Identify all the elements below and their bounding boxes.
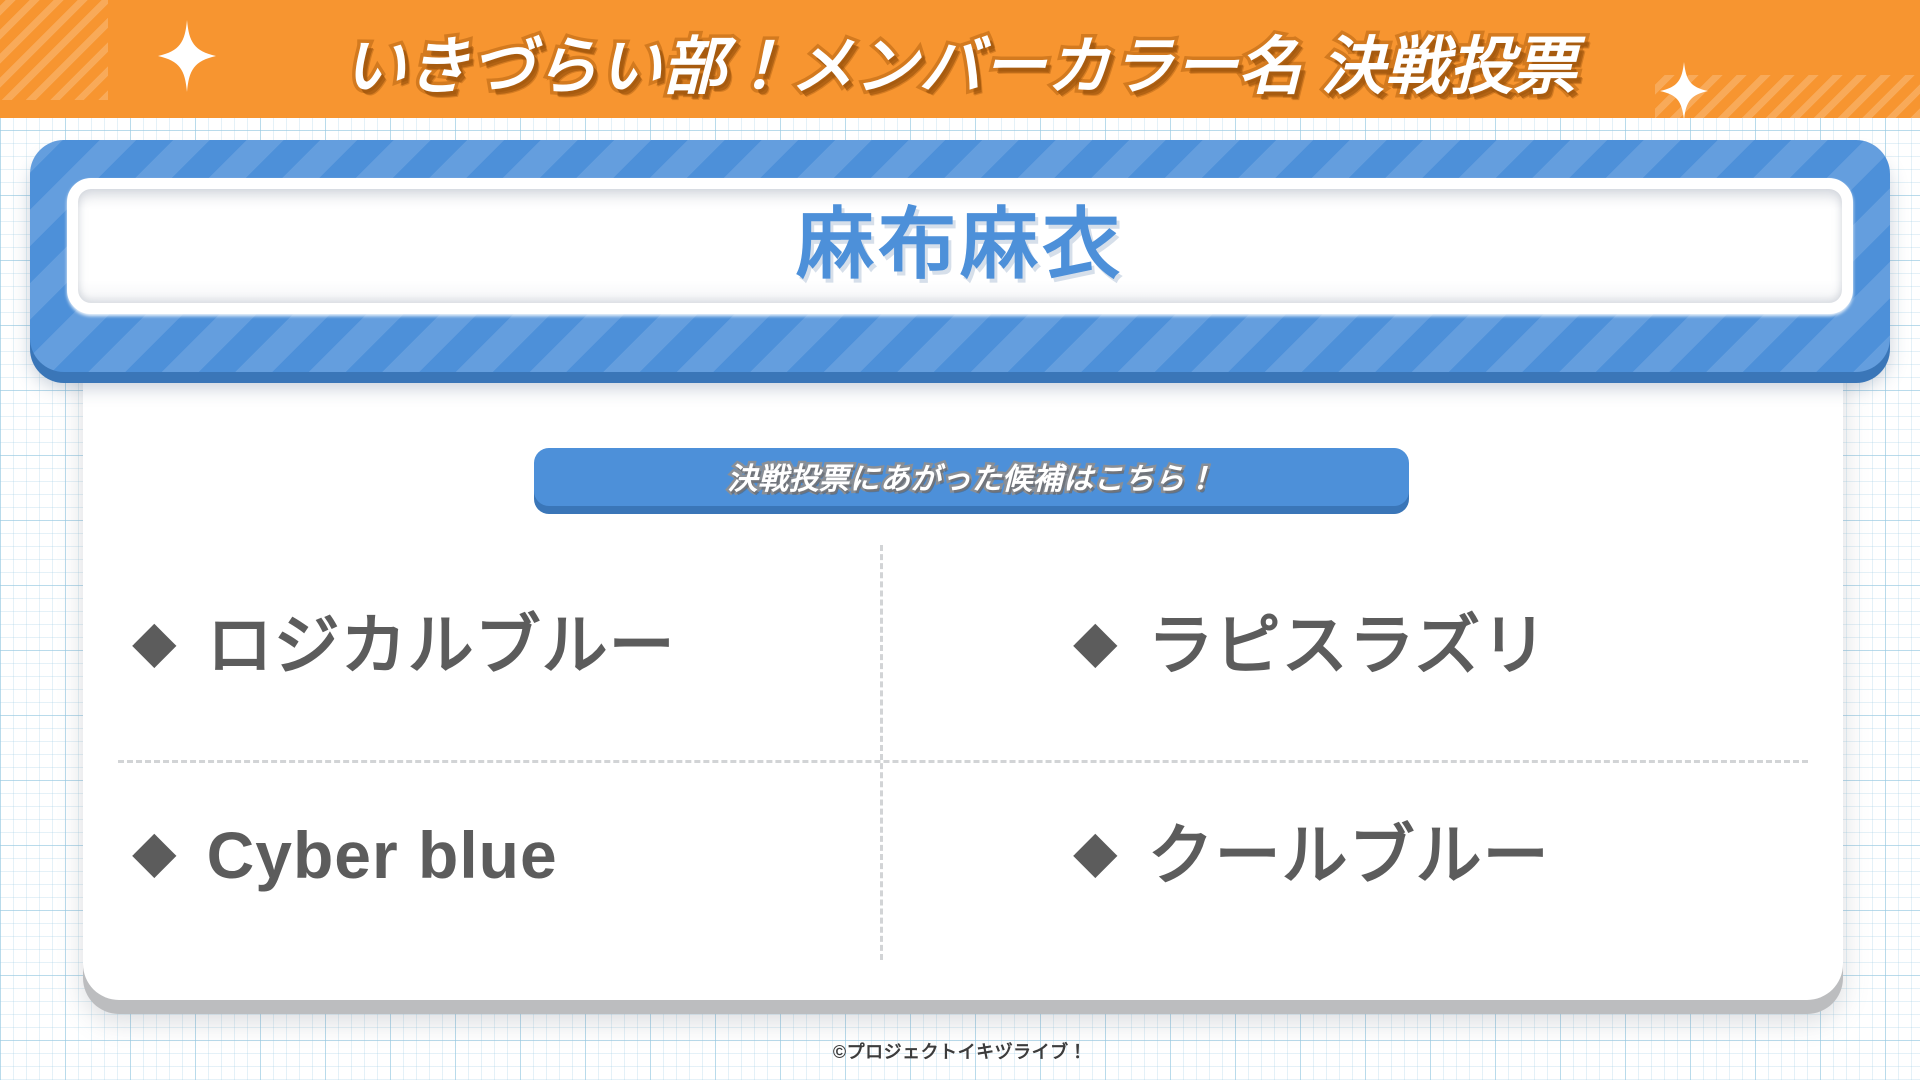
candidate-option-4[interactable]: ◆ クールブルー <box>963 750 1808 960</box>
diamond-bullet-icon: ◆ <box>1073 823 1118 881</box>
candidate-option-label: ラピスラズリ <box>1148 612 1549 678</box>
diamond-bullet-icon: ◆ <box>1073 613 1118 671</box>
ribbon-label-text: 決戦投票にあがった候補はこちら！ <box>728 454 1216 498</box>
member-name-inner-box: 麻布麻衣 <box>67 178 1853 314</box>
diamond-bullet-icon: ◆ <box>132 823 177 881</box>
candidate-option-label: ロジカルブルー <box>207 612 676 678</box>
candidate-option-2[interactable]: ◆ ラピスラズリ <box>963 540 1808 750</box>
copyright-notice: ©プロジェクトイキヅライブ！ <box>0 1038 1920 1064</box>
candidate-option-1[interactable]: ◆ ロジカルブルー <box>118 540 963 750</box>
candidate-options-grid: ◆ ロジカルブルー ◆ ラピスラズリ ◆ Cyber blue ◆ クールブルー <box>118 540 1808 960</box>
diamond-bullet-icon: ◆ <box>132 613 177 671</box>
header-banner: いきづらい部！メンバーカラー名 決戦投票 <box>0 0 1920 118</box>
candidate-option-label: Cyber blue <box>207 822 558 888</box>
vertical-dashed-divider <box>880 545 883 960</box>
member-name-panel: 麻布麻衣 <box>30 140 1890 372</box>
member-name-text: 麻布麻衣 <box>796 205 1124 283</box>
horizontal-dashed-divider <box>118 760 1808 763</box>
ribbon-label: 決戦投票にあがった候補はこちら！ <box>534 448 1409 506</box>
page-title: いきづらい部！メンバーカラー名 決戦投票 <box>0 2 1920 118</box>
candidate-option-label: クールブルー <box>1148 822 1550 888</box>
candidate-option-3[interactable]: ◆ Cyber blue <box>118 750 963 960</box>
